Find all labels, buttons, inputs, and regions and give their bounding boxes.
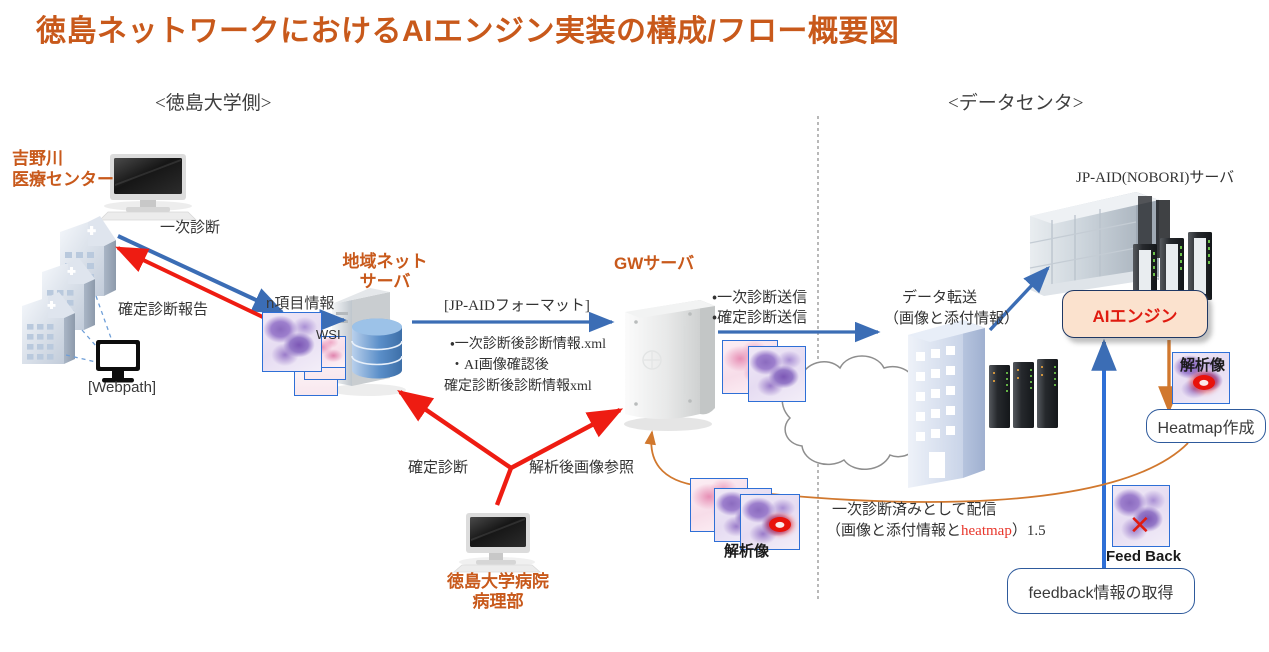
org-label-line2: 医療センター [12,169,114,190]
wsi-thumbnail-main [262,312,322,372]
data-transfer-line-2: （画像と添付情報） [884,309,1019,330]
feedback-info-box[interactable]: feedback情報の取得 [1007,568,1195,614]
node-label-hospital-pathology: 徳島大学病院 病理部 [434,572,562,613]
label-analyzed-image-reference: 解析後画像参照 [529,458,634,479]
format-bullet-2: ・AI画像確認後 [450,356,549,376]
label-analyzed-images: 解析像 [724,540,769,561]
wsi-pair-purple [748,346,806,402]
label-jpaid-server: JP-AID(NOBORI)サーバ [1076,168,1234,189]
delivery-line-2-prefix: （画像と添付情報と [826,523,961,539]
label-primary-diagnosis: 一次診断 [160,218,220,239]
regional-server-line2: サーバ [330,272,440,292]
label-confirmed-diagnosis: 確定診断 [408,458,468,479]
delivery-line-2-suffix: ）1.5 [1012,523,1046,539]
gw-bullet-2: ・確定診断送信 [712,308,807,329]
cross-mark-icon: ✕ [1129,512,1151,538]
delivery-line-2-heatmap: heatmap [961,523,1012,539]
format-bullet-1: ・一次診断後診断情報.xml [450,335,606,355]
heatmap-hotspot-right-icon [1193,375,1215,390]
label-feed-back: Feed Back [1106,548,1181,565]
heatmap-creation-box[interactable]: Heatmap作成 [1146,409,1266,443]
zone-label-university: <徳島大学側> [155,88,271,115]
hospital-line2: 病理部 [434,592,562,612]
delivery-line-1: 一次診断済みとして配信 [832,500,997,521]
diagram-canvas: 徳島ネットワークにおけるAIエンジン実装の構成/フロー概要図 <徳島大学側> <… [0,0,1269,652]
node-label-regional-server: 地域ネット サーバ [330,252,440,293]
label-confirmed-diagnosis-report: 確定診断報告 [118,300,208,321]
label-jpaid-format: [JP-AIDフォーマット] [444,296,590,317]
org-label-line1: 吉野川 [12,148,114,169]
org-label-yoshinogawa: 吉野川 医療センター [12,148,114,191]
format-bullet-3: 確定診断後診断情報xml [444,377,592,397]
label-analysis-image-right: 解析像 [1180,354,1225,375]
ai-engine-box[interactable]: AIエンジン [1062,290,1208,338]
delivery-line-2: （画像と添付情報とheatmap）1.5 [826,521,1046,542]
label-wsi: WSI [316,327,341,342]
heatmap-hotspot-icon [769,517,791,532]
data-transfer-line-1: データ転送 [902,288,977,309]
feedback-image: ✕ [1112,485,1170,547]
regional-server-line1: 地域ネット [330,252,440,272]
zone-label-datacenter: <データセンタ> [948,88,1083,115]
label-webpath: [Webpath] [88,378,156,398]
gw-bullet-1: ・一次診断送信 [712,288,807,309]
page-title: 徳島ネットワークにおけるAIエンジン実装の構成/フロー概要図 [36,6,899,50]
hospital-line1: 徳島大学病院 [434,572,562,592]
node-label-gw-server: GWサーバ [614,254,694,274]
